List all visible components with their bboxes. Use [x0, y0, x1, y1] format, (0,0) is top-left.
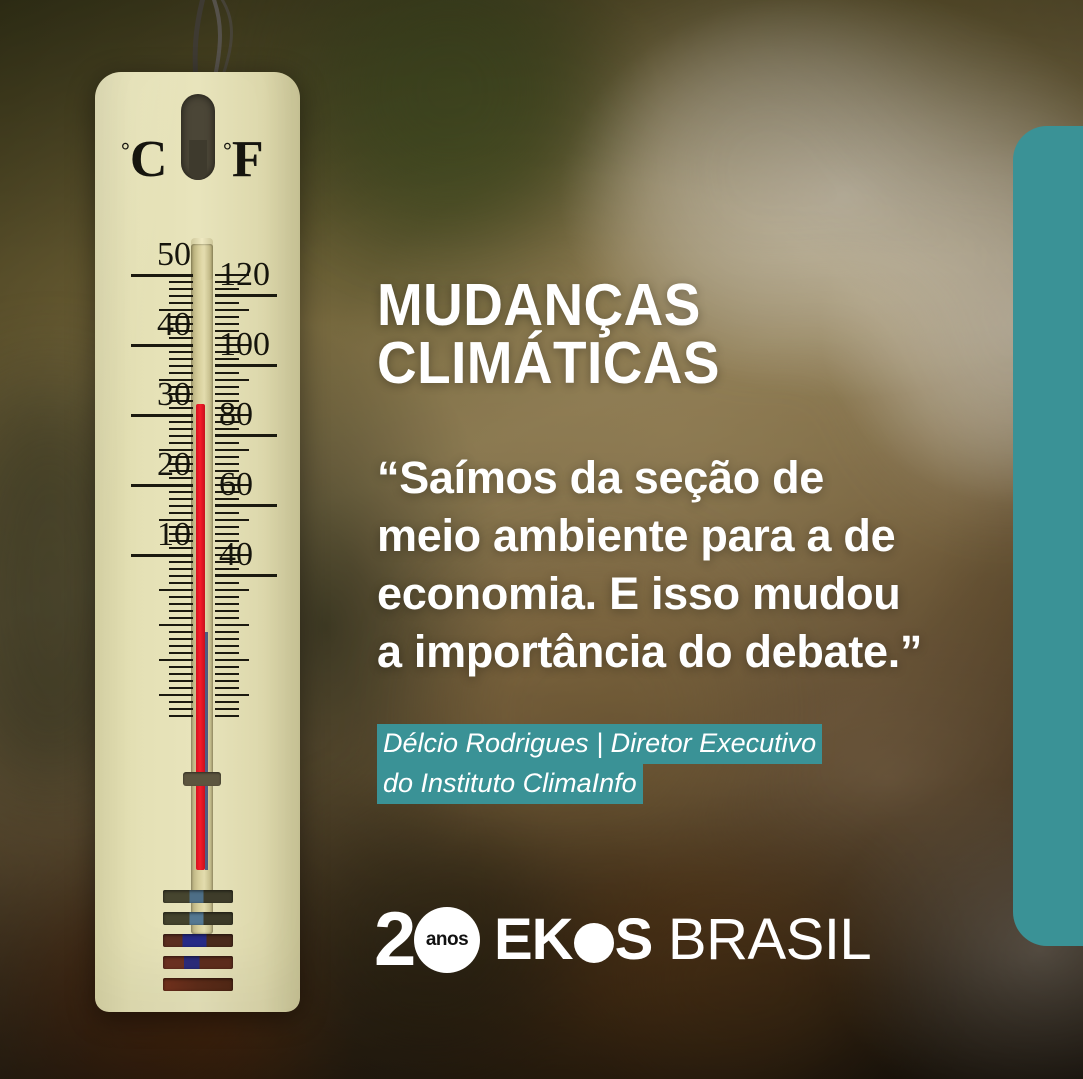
scale-tick [169, 442, 193, 444]
attribution-line-1: Délcio Rodrigues | Diretor Executivo [377, 724, 822, 764]
teal-side-panel [1013, 126, 1083, 946]
scale-tick [169, 568, 193, 570]
scale-tick [169, 351, 193, 353]
attribution-line-1-wrap: Délcio Rodrigues | Diretor Executivo [377, 724, 822, 764]
logo-20-anos-badge: 2 anos [374, 905, 482, 973]
scale-tick [215, 645, 239, 647]
scale-tick [169, 512, 193, 514]
scale-tick [215, 449, 249, 451]
scale-major-tick [215, 364, 277, 367]
logo-digit-two: 2 [374, 907, 412, 973]
scale-tick [215, 659, 249, 661]
scale-tick [169, 295, 193, 297]
vent-slot [163, 978, 233, 991]
scale-tick [169, 365, 193, 367]
celsius-scale-label: 20 [157, 448, 191, 482]
scale-major-tick [131, 274, 193, 277]
scale-tick [215, 309, 249, 311]
scale-tick [215, 624, 249, 626]
scale-tick [215, 456, 239, 458]
scale-tick [169, 435, 193, 437]
scale-major-tick [131, 554, 193, 557]
scale-major-tick [131, 414, 193, 417]
scale-tick [169, 603, 193, 605]
scale-tick [215, 715, 239, 717]
scale-tick [215, 687, 239, 689]
logo-o-dot-icon [574, 923, 614, 963]
scale-tick [215, 302, 239, 304]
attribution-line-2: do Instituto ClimaInfo [377, 764, 643, 804]
quote-text: “Saímos da seção de meio ambiente para a… [377, 449, 977, 681]
fahrenheit-scale-label: 100 [219, 328, 270, 362]
celsius-scale-label: 10 [157, 518, 191, 552]
scale-tick [215, 610, 239, 612]
celsius-scale-label: 50 [157, 238, 191, 272]
scale-tick [215, 316, 239, 318]
scale-tick [215, 673, 239, 675]
scale-tick [169, 687, 193, 689]
scale-tick [169, 358, 193, 360]
scale-tick [169, 645, 193, 647]
scale-tick [159, 624, 193, 626]
celsius-scale-label: 30 [157, 378, 191, 412]
scale-tick [169, 631, 193, 633]
scale-major-tick [131, 344, 193, 347]
vent-slot [163, 956, 233, 969]
fahrenheit-scale-label: 80 [219, 398, 253, 432]
scale-tick [169, 673, 193, 675]
scale-tick [215, 589, 249, 591]
scale-tick [215, 512, 239, 514]
scale-tick [159, 659, 193, 661]
logo-ekos-text: EK [494, 907, 573, 972]
page-title: MUDANÇAS CLIMÁTICAS [377, 276, 935, 393]
scale-tick [169, 596, 193, 598]
scale-tick [215, 680, 239, 682]
quote-attribution: Délcio Rodrigues | Diretor Executivo do … [377, 724, 997, 804]
attribution-line-2-wrap: do Instituto ClimaInfo [377, 764, 643, 804]
scale-tick [159, 589, 193, 591]
vent-slot [163, 934, 233, 947]
scale-tick [215, 617, 239, 619]
scale-tick [169, 610, 193, 612]
vent-slot [163, 912, 233, 925]
quote-line-2: meio ambiente para a de [377, 507, 977, 565]
scale-tick [215, 596, 239, 598]
poster-canvas: °C °F 5040302010 120100806040 MUDANÇAS C… [0, 0, 1083, 1079]
scale-tick [169, 680, 193, 682]
scale-major-tick [215, 434, 277, 437]
celsius-scale-label: 40 [157, 308, 191, 342]
quote-line-3: economia. E isso mudou [377, 565, 977, 623]
thermometer-body: °C °F 5040302010 120100806040 [95, 72, 300, 1012]
fahrenheit-scale-label: 120 [219, 258, 270, 292]
thermometer-vents [163, 890, 233, 1000]
scale-tick [169, 421, 193, 423]
scale-tick [169, 708, 193, 710]
degree-sign-fahrenheit: ° [223, 138, 232, 163]
scale-tick [169, 638, 193, 640]
thermometer: °C °F 5040302010 120100806040 [0, 0, 340, 1079]
celsius-unit-label: °C [121, 134, 167, 186]
quote-line-1: “Saímos da seção de [377, 449, 977, 507]
mercury-shadow-line [205, 632, 208, 870]
scale-tick [215, 372, 239, 374]
logo-brasil-text: BRASIL [652, 907, 871, 972]
scale-major-tick [215, 574, 277, 577]
celsius-letter: C [130, 131, 168, 188]
thermometer-unit-labels: °C °F [95, 134, 300, 204]
scale-tick [169, 715, 193, 717]
scale-tick [215, 638, 239, 640]
scale-tick [169, 701, 193, 703]
headline-line-2: CLIMÁTICAS [377, 334, 935, 392]
scale-tick [159, 694, 193, 696]
scale-tick [215, 631, 239, 633]
scale-major-tick [215, 504, 277, 507]
scale-tick [169, 575, 193, 577]
scale-tick [215, 463, 239, 465]
scale-major-tick [131, 484, 193, 487]
fahrenheit-scale-label: 40 [219, 538, 253, 572]
logo-anos-text: anos [414, 907, 480, 973]
logo-wordmark: EKS BRASIL [494, 911, 871, 969]
scale-tick [169, 652, 193, 654]
scale-tick [215, 393, 239, 395]
vent-slot [163, 890, 233, 903]
scale-tick [169, 498, 193, 500]
scale-tick [215, 708, 239, 710]
scale-tick [215, 379, 249, 381]
fahrenheit-letter: F [232, 131, 264, 188]
fahrenheit-scale-label: 60 [219, 468, 253, 502]
scale-tick [215, 442, 239, 444]
scale-tick [169, 288, 193, 290]
scale-tick [169, 666, 193, 668]
scale-tick [215, 582, 239, 584]
scale-tick [169, 617, 193, 619]
scale-tick [215, 666, 239, 668]
celsius-scale: 5040302010 [105, 244, 195, 934]
degree-sign-celsius: ° [121, 138, 130, 163]
scale-tick [169, 505, 193, 507]
mercury-column [196, 404, 205, 870]
scale-tick [215, 386, 239, 388]
scale-tick [215, 533, 239, 535]
scale-tick [215, 603, 239, 605]
scale-major-tick [215, 294, 277, 297]
headline-line-1: MUDANÇAS [377, 276, 935, 334]
scale-tick [169, 561, 193, 563]
logo-ekos-tail: S [615, 907, 653, 972]
scale-tick [169, 372, 193, 374]
scale-tick [169, 281, 193, 283]
quote-line-4: a importância do debate.” [377, 623, 977, 681]
scale-tick [215, 652, 239, 654]
fahrenheit-scale: 120100806040 [213, 244, 303, 934]
scale-tick [169, 428, 193, 430]
scale-tick [215, 519, 249, 521]
scale-tick [215, 701, 239, 703]
scale-tick [169, 582, 193, 584]
scale-tick [215, 526, 239, 528]
scale-tick [169, 491, 193, 493]
scale-tick [169, 302, 193, 304]
scale-tick [215, 694, 249, 696]
fahrenheit-unit-label: °F [223, 134, 264, 186]
scale-tick [215, 323, 239, 325]
